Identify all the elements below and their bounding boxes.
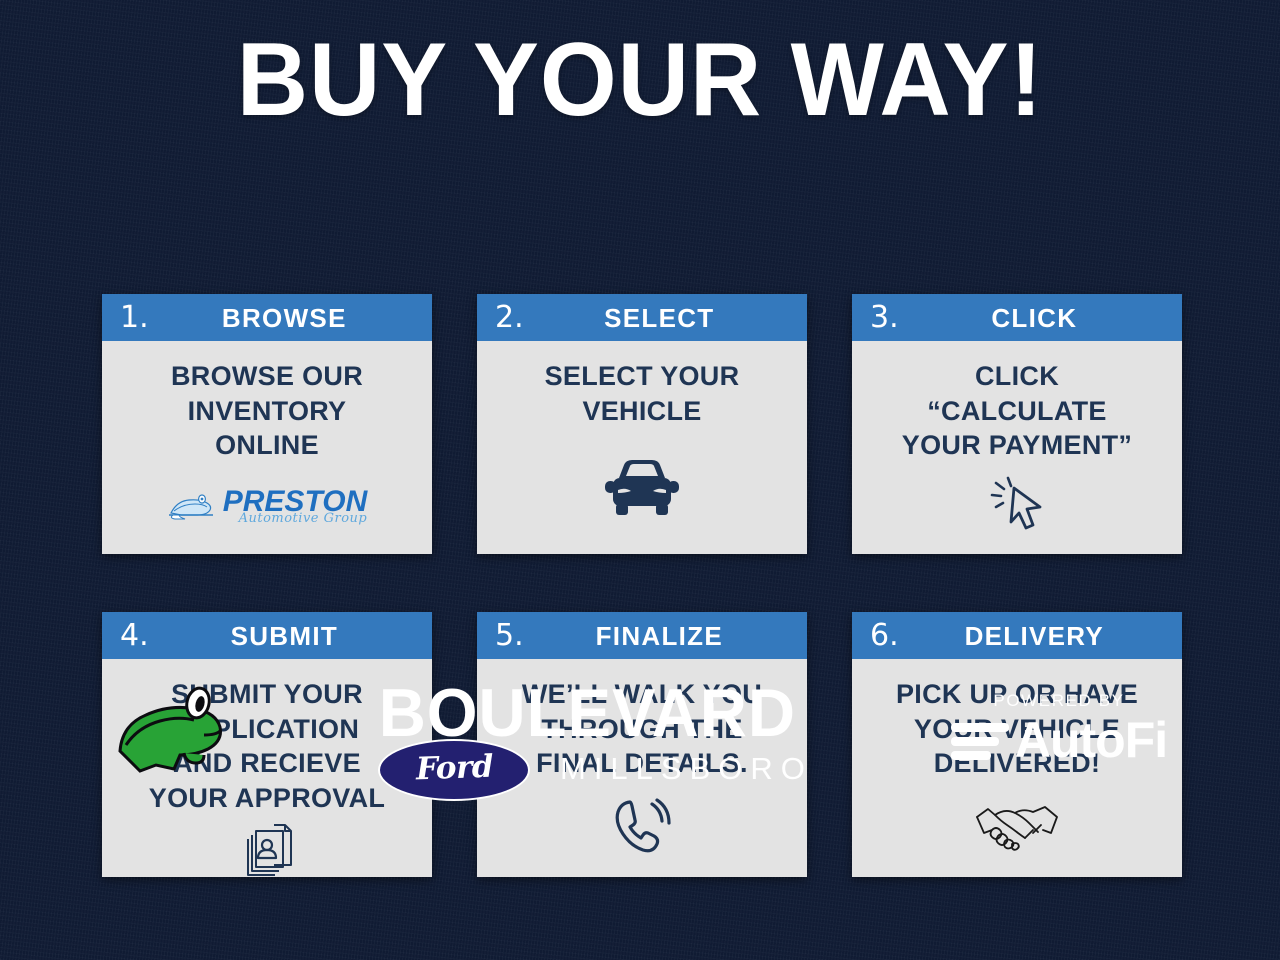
preston-tagline: Automotive Group (223, 511, 367, 526)
dealer-location: MILLSBORO (560, 753, 813, 784)
handshake-icon (971, 797, 1063, 853)
step-title: DELIVERY (909, 623, 1172, 649)
frog-logo-icon (112, 673, 232, 785)
poster-canvas: BUY YOUR WAY! 1. BROWSE BROWSE OUR INVEN… (0, 0, 1280, 960)
page-title: BUY YOUR WAY! (32, 28, 1248, 132)
step-card-header: 5. FINALIZE (477, 612, 807, 659)
step-card-browse[interactable]: 1. BROWSE BROWSE OUR INVENTORY ONLINE (102, 294, 432, 554)
step-title: SUBMIT (159, 623, 422, 649)
step-card-click[interactable]: 3. CLICK CLICK “CALCULATE YOUR PAYMENT” (852, 294, 1182, 554)
step-description: CLICK “CALCULATE YOUR PAYMENT” (902, 359, 1132, 463)
step-card-header: 4. SUBMIT (102, 612, 432, 659)
step-card-header: 6. DELIVERY (852, 612, 1182, 659)
autofi-logo[interactable]: POWERED BY AutoFi (934, 691, 1184, 765)
step-title: CLICK (909, 305, 1172, 331)
cursor-click-icon (984, 475, 1050, 533)
step-card-body: SELECT YOUR VEHICLE (477, 341, 807, 554)
step-description: SELECT YOUR VEHICLE (545, 359, 740, 428)
step-card-body: BROWSE OUR INVENTORY ONLINE PRESTON (102, 341, 432, 554)
step-card-header: 3. CLICK (852, 294, 1182, 341)
boulevard-ford-logo[interactable]: BOULEVARD Ford MILLSBORO (112, 673, 802, 795)
step-card-select[interactable]: 2. SELECT SELECT YOUR VEHICLE (477, 294, 807, 554)
step-card-body: CLICK “CALCULATE YOUR PAYMENT” (852, 341, 1182, 554)
ford-wordmark: Ford (415, 751, 493, 785)
step-card-header: 1. BROWSE (102, 294, 432, 341)
step-description: BROWSE OUR INVENTORY ONLINE (171, 359, 363, 463)
step-card-header: 2. SELECT (477, 294, 807, 341)
step-number: 2. (495, 303, 524, 333)
step-title: BROWSE (159, 305, 422, 331)
frog-icon (167, 491, 219, 521)
powered-by-label: POWERED BY (934, 691, 1184, 711)
step-title: FINALIZE (534, 623, 797, 649)
step-number: 1. (120, 303, 149, 333)
application-document-icon (238, 821, 296, 879)
ford-oval-logo: Ford (378, 739, 530, 801)
step-number: 3. (870, 303, 899, 333)
preston-automotive-group-logo: PRESTON Automotive Group (116, 463, 418, 540)
step-title: SELECT (534, 305, 797, 331)
step-number: 4. (120, 621, 149, 651)
footer: BOULEVARD Ford MILLSBORO POWERED BY Auto… (0, 669, 1280, 799)
autofi-wordmark: AutoFi (1015, 715, 1167, 765)
autofi-bars-icon (951, 720, 1009, 760)
phone-call-icon (610, 794, 674, 856)
step-number: 5. (495, 621, 524, 651)
dealer-name: BOULEVARD (379, 679, 796, 747)
car-front-icon (599, 454, 685, 520)
step-number: 6. (870, 621, 899, 651)
